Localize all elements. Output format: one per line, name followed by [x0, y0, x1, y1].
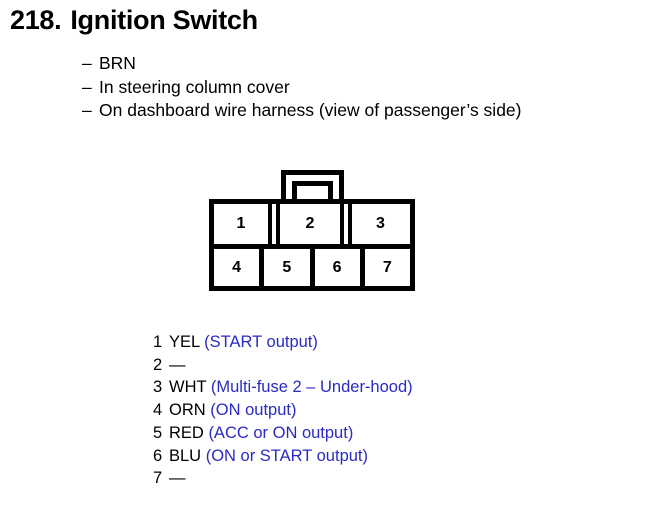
- pin-legend-row: 7—: [153, 467, 413, 490]
- pin-wire-color: WHT: [169, 378, 206, 396]
- pin-legend: 1YEL (START output) 2— 3WHT (Multi-fuse …: [153, 331, 413, 490]
- pin-wire-color: —: [169, 469, 186, 487]
- connector-pin-3: 3: [352, 204, 409, 244]
- pin-legend-row: 4ORN (ON output): [153, 399, 413, 422]
- pin-description: (ON output): [210, 401, 296, 419]
- list-item: –BRN: [82, 52, 522, 76]
- page-root: { "header": { "number": "218.", "title":…: [0, 0, 670, 518]
- pin-wire-color: —: [169, 356, 186, 374]
- list-item-label: In steering column cover: [99, 77, 290, 97]
- pin-number: 5: [153, 422, 169, 445]
- list-item-label: On dashboard wire harness (view of passe…: [99, 100, 522, 120]
- pin-description: (ACC or ON output): [208, 424, 353, 442]
- pin-number: 6: [153, 445, 169, 468]
- connector-row-bottom: 4 5 6 7: [214, 249, 410, 286]
- pin-wire-color: RED: [169, 424, 204, 442]
- page-title: 218.Ignition Switch: [10, 6, 258, 36]
- connector-pin-4: 4: [214, 249, 259, 286]
- connector-pin-7: 7: [365, 249, 410, 286]
- list-item: –On dashboard wire harness (view of pass…: [82, 99, 522, 123]
- section-title: Ignition Switch: [70, 5, 257, 35]
- connector-pin-6: 6: [315, 249, 360, 286]
- connector-pin-divider: [340, 204, 352, 244]
- pin-number: 1: [153, 331, 169, 354]
- pin-number: 2: [153, 354, 169, 377]
- connector-pin-2: 2: [280, 204, 340, 244]
- connector-pin-divider: [268, 204, 280, 244]
- list-item: –In steering column cover: [82, 76, 522, 100]
- pin-legend-row: 1YEL (START output): [153, 331, 413, 354]
- connector-row-top: 1 2 3: [214, 204, 410, 244]
- pin-description: (Multi-fuse 2 – Under-hood): [211, 378, 413, 396]
- pin-wire-color: BLU: [169, 447, 201, 465]
- description-bullet-list: –BRN –In steering column cover –On dashb…: [82, 52, 522, 123]
- pin-legend-row: 3WHT (Multi-fuse 2 – Under-hood): [153, 376, 413, 399]
- pin-number: 3: [153, 376, 169, 399]
- dash-marker: –: [82, 76, 99, 100]
- pin-legend-row: 6BLU (ON or START output): [153, 445, 413, 468]
- pin-legend-row: 5RED (ACC or ON output): [153, 422, 413, 445]
- pin-legend-row: 2—: [153, 354, 413, 377]
- list-item-label: BRN: [99, 53, 136, 73]
- dash-marker: –: [82, 99, 99, 123]
- connector-pin-1: 1: [214, 204, 268, 244]
- pin-description: (ON or START output): [206, 447, 368, 465]
- pin-number: 7: [153, 467, 169, 490]
- pin-description: (START output): [204, 333, 318, 351]
- connector-pin-5: 5: [264, 249, 309, 286]
- pin-wire-color: YEL: [169, 333, 200, 351]
- section-number: 218.: [10, 6, 61, 36]
- pin-wire-color: ORN: [169, 401, 206, 419]
- connector-latch-inner: [292, 181, 333, 201]
- connector-diagram: 1 2 3 4 5 6 7: [209, 170, 415, 291]
- dash-marker: –: [82, 52, 99, 76]
- pin-number: 4: [153, 399, 169, 422]
